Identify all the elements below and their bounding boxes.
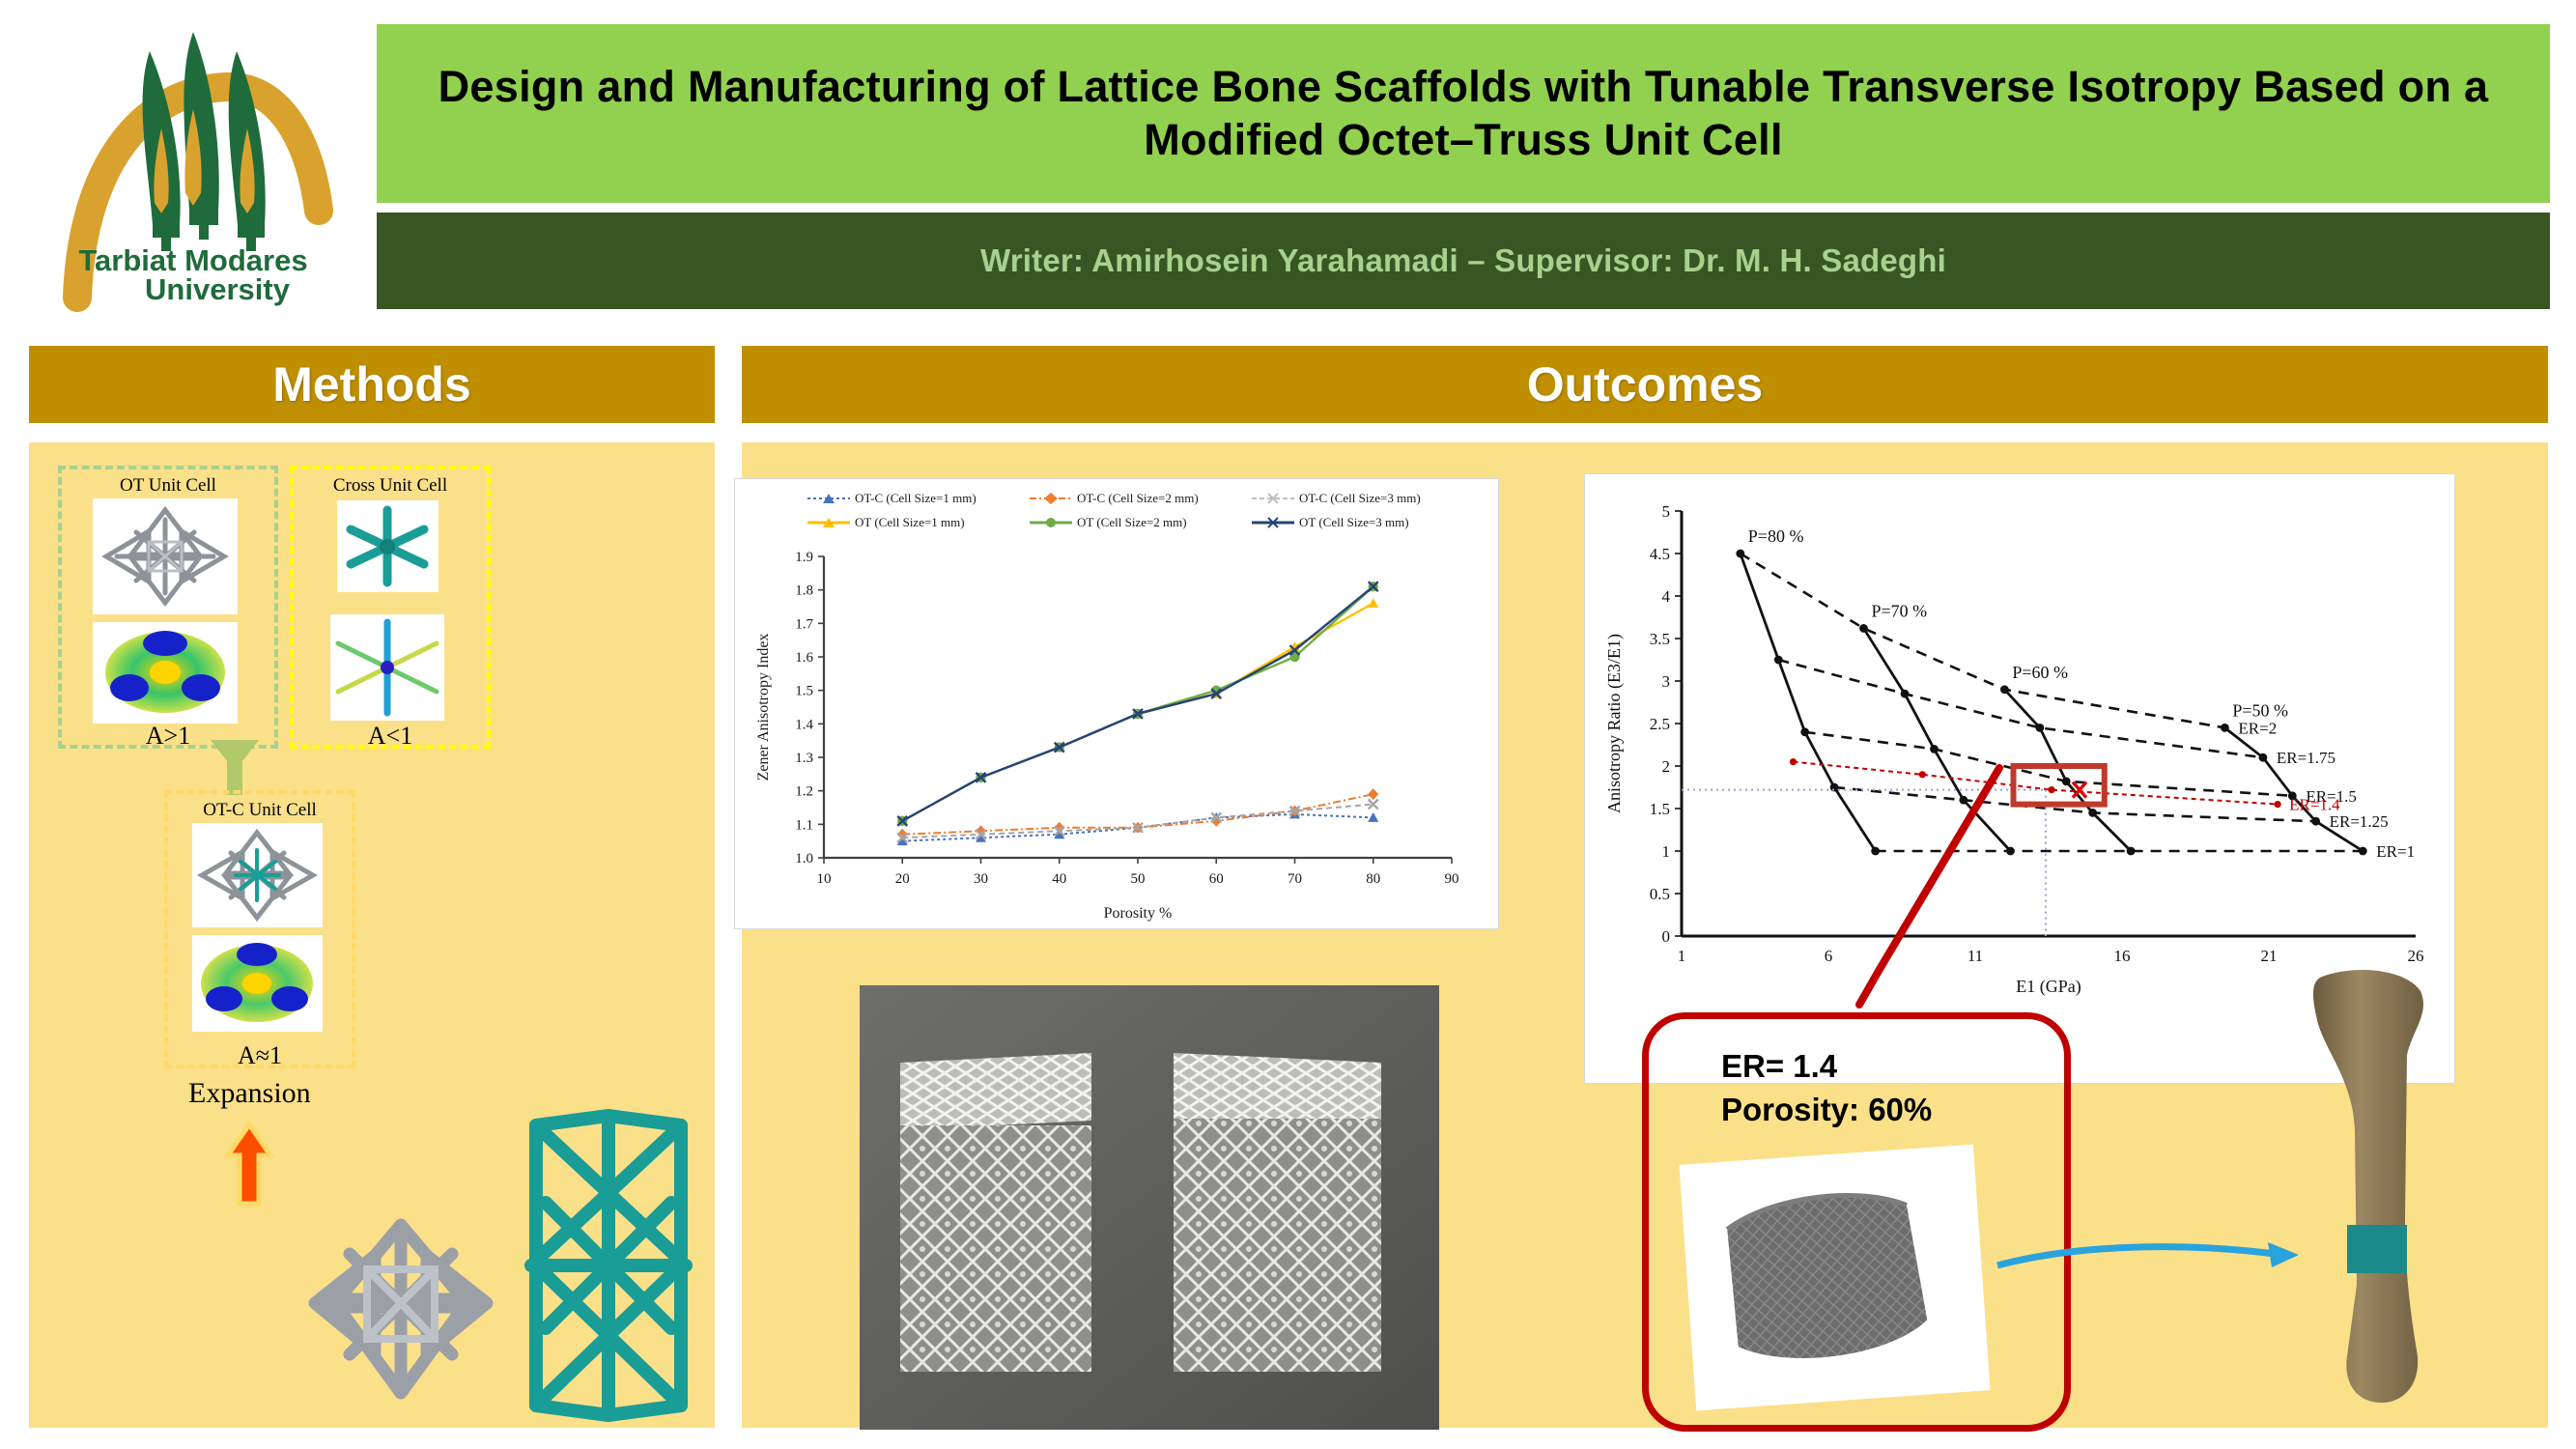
otc-lattice-teal-illustration: [502, 1106, 715, 1425]
otc-unit-cell-box: OT-C Unit Cell: [164, 790, 355, 1068]
ot-unit-cell-title: OT Unit Cell: [62, 475, 274, 497]
poster-title-bar: Design and Manufacturing of Lattice Bone…: [377, 24, 2550, 203]
svg-text:90: 90: [1445, 871, 1459, 887]
cross-unit-cell-box: Cross Unit Cell A<1: [290, 466, 491, 749]
poster-title: Design and Manufacturing of Lattice Bone…: [377, 61, 2550, 167]
ot-anisotropy-surface: [93, 622, 238, 724]
svg-text:30: 30: [974, 871, 988, 887]
svg-text:2: 2: [1662, 757, 1671, 776]
svg-text:5: 5: [1662, 502, 1671, 521]
cross-anisotropy-surface: [330, 614, 444, 721]
expansion-label: Expansion: [188, 1077, 311, 1110]
callout-scaffold-photo: [1679, 1145, 1990, 1411]
poster-author-bar: Writer: Amirhosein Yarahamadi – Supervis…: [377, 213, 2550, 309]
otc-unit-cell-render: [192, 823, 323, 927]
methods-section-header: Methods: [29, 346, 715, 423]
legend-label: OT-C (Cell Size=1 mm): [855, 491, 977, 506]
ot-unit-cell-render: [93, 498, 238, 614]
svg-text:P=50 %: P=50 %: [2232, 700, 2288, 720]
legend-item: OT-C (Cell Size=1 mm): [807, 491, 1030, 506]
tibia-bone-illustration: [2260, 966, 2492, 1430]
otc-unit-cell-caption: A≈1: [168, 1041, 352, 1070]
svg-text:ER=2: ER=2: [2238, 719, 2277, 737]
selected-design-callout: ER= 1.4 Porosity: 60%: [1642, 1012, 2071, 1432]
ot-unit-cell-box: OT Unit Cell: [58, 466, 278, 749]
svg-text:40: 40: [1052, 871, 1066, 887]
svg-text:70: 70: [1288, 871, 1302, 887]
svg-text:4.5: 4.5: [1650, 545, 1670, 563]
legend-label: OT (Cell Size=2 mm): [1077, 515, 1187, 530]
svg-text:1.6: 1.6: [795, 650, 813, 666]
expansion-arrow-icon: [224, 1121, 274, 1207]
legend-label: OT-C (Cell Size=2 mm): [1077, 491, 1199, 506]
legend-label: OT-C (Cell Size=3 mm): [1299, 491, 1421, 506]
legend-item: OT (Cell Size=2 mm): [1030, 515, 1252, 530]
svg-text:ER=1.25: ER=1.25: [2330, 812, 2389, 831]
otc-unit-cell-title: OT-C Unit Cell: [168, 800, 352, 821]
svg-text:26: 26: [2408, 947, 2424, 965]
svg-text:1.0: 1.0: [795, 851, 813, 867]
university-logo: Tarbiat Modares University: [39, 17, 348, 327]
cross-unit-cell-caption: A<1: [294, 722, 487, 751]
logo-name-line2: University: [145, 272, 291, 306]
methods-section-label: Methods: [272, 356, 471, 412]
svg-text:1: 1: [1662, 842, 1671, 861]
outcomes-section-label: Outcomes: [1527, 356, 1764, 412]
svg-text:4: 4: [1662, 587, 1671, 606]
svg-text:1.3: 1.3: [795, 751, 813, 766]
svg-text:1: 1: [1678, 947, 1686, 965]
legend-item: OT (Cell Size=3 mm): [1252, 515, 1474, 530]
svg-text:10: 10: [817, 871, 832, 887]
svg-text:1.9: 1.9: [795, 550, 813, 565]
svg-text:3.5: 3.5: [1650, 630, 1670, 648]
svg-text:1.7: 1.7: [795, 616, 813, 632]
legend-label: OT (Cell Size=3 mm): [1299, 515, 1409, 530]
cross-unit-cell-title: Cross Unit Cell: [294, 475, 487, 497]
svg-text:ER=1: ER=1: [2376, 842, 2415, 861]
svg-text:0: 0: [1662, 927, 1671, 946]
svg-text:3: 3: [1662, 672, 1671, 691]
svg-text:P=70 %: P=70 %: [1871, 601, 1927, 620]
chart1-plot: 1.01.11.21.31.41.51.61.71.81.91020304050…: [735, 539, 1498, 925]
svg-text:21: 21: [2261, 947, 2278, 965]
chart1-legend: OT-C (Cell Size=1 mm) OT-C (Cell Size=2 …: [807, 491, 1474, 530]
svg-text:1.4: 1.4: [795, 717, 813, 732]
ot-lattice-gray-illustration: [299, 1207, 502, 1410]
outcomes-section-header: Outcomes: [742, 346, 2548, 423]
svg-text:P=80 %: P=80 %: [1748, 526, 1804, 546]
svg-text:1.2: 1.2: [795, 784, 813, 800]
legend-item: OT (Cell Size=1 mm): [807, 515, 1030, 530]
svg-text:Zener Anisotropy Index: Zener Anisotropy Index: [755, 634, 772, 781]
otc-anisotropy-surface: [192, 935, 323, 1032]
cross-unit-cell-render: [337, 500, 439, 592]
callout-leader-line: [1806, 753, 2212, 1043]
legend-label: OT (Cell Size=1 mm): [855, 515, 965, 530]
svg-text:ER=1.4: ER=1.4: [2289, 796, 2340, 814]
svg-text:1.1: 1.1: [795, 817, 813, 833]
manufactured-scaffolds-photo: [860, 985, 1439, 1430]
svg-text:80: 80: [1366, 871, 1380, 887]
svg-text:Porosity %: Porosity %: [1104, 905, 1173, 922]
callout-er-label: ER= 1.4: [1721, 1048, 1837, 1085]
svg-text:1.8: 1.8: [795, 583, 813, 599]
svg-text:60: 60: [1209, 871, 1224, 887]
poster-author-line: Writer: Amirhosein Yarahamadi – Supervis…: [980, 242, 1946, 279]
legend-item: OT-C (Cell Size=3 mm): [1252, 491, 1474, 506]
svg-text:P=60 %: P=60 %: [2012, 663, 2068, 682]
svg-text:Anisotropy Ratio (E3/E1): Anisotropy Ratio (E3/E1): [1604, 634, 1625, 813]
svg-text:50: 50: [1131, 871, 1146, 887]
callout-porosity-label: Porosity: 60%: [1721, 1092, 1932, 1128]
svg-text:ER=1.75: ER=1.75: [2277, 749, 2335, 767]
legend-item: OT-C (Cell Size=2 mm): [1030, 491, 1252, 506]
svg-text:1.5: 1.5: [1650, 800, 1670, 818]
svg-text:2.5: 2.5: [1650, 715, 1670, 733]
svg-text:1.5: 1.5: [795, 684, 813, 699]
svg-text:0.5: 0.5: [1650, 885, 1670, 903]
svg-text:20: 20: [895, 871, 910, 887]
zener-anisotropy-chart: OT-C (Cell Size=1 mm) OT-C (Cell Size=2 …: [734, 478, 1499, 929]
